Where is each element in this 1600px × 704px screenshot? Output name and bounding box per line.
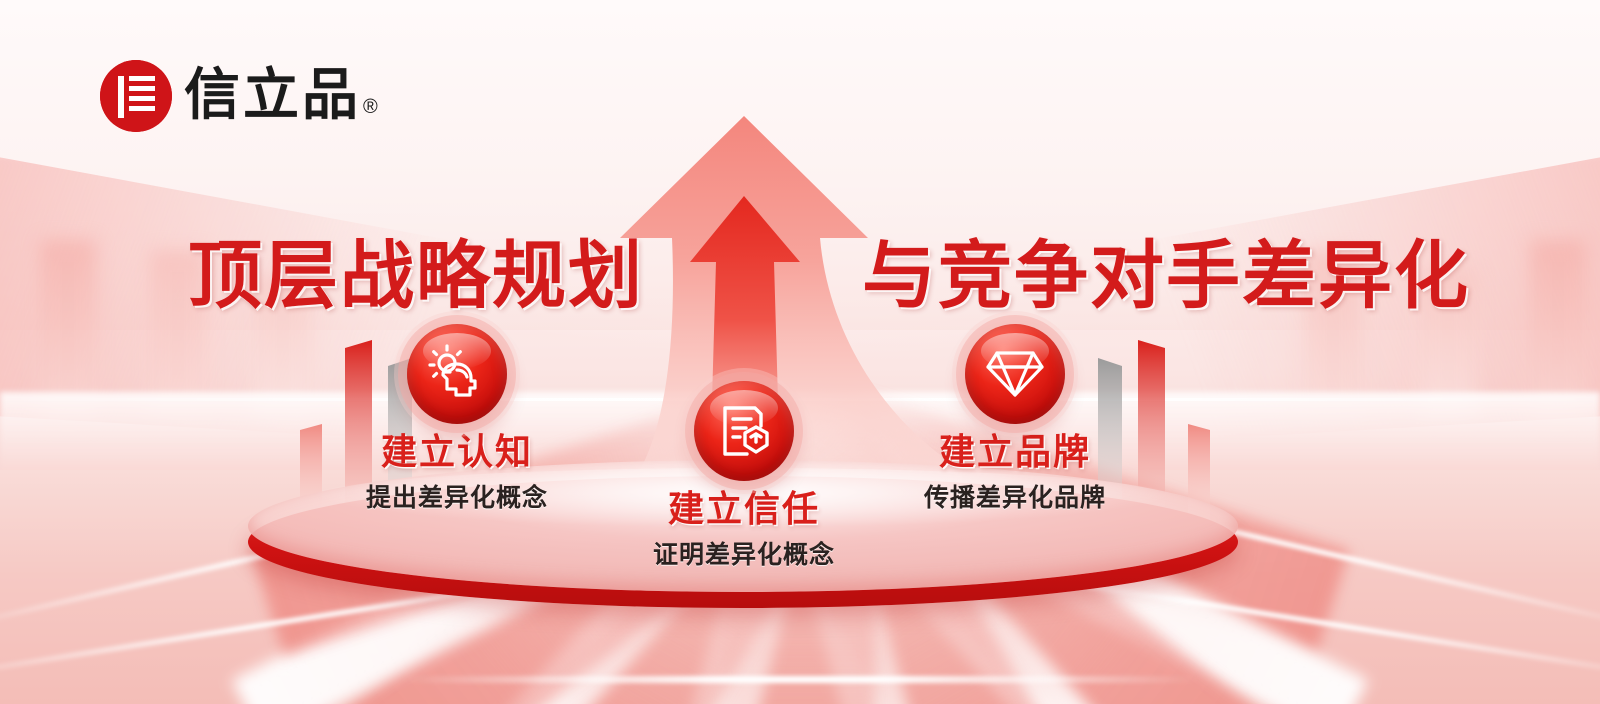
pillar-establish-brand[interactable]: 建立品牌 传播差异化品牌 bbox=[865, 324, 1165, 514]
pillar-establish-cognition[interactable]: 建立认知 提出差异化概念 bbox=[307, 324, 607, 514]
floor-glow-strip bbox=[400, 676, 1200, 683]
document-shield-icon bbox=[694, 381, 794, 481]
pillar-subtitle: 证明差异化概念 bbox=[594, 535, 894, 571]
poster-canvas: 信立品 ® 顶层战略规划 与竞争对手差异化 建立认知 提出差异化概念 bbox=[0, 0, 1600, 704]
background-pillar bbox=[1530, 240, 1586, 425]
lightbulb-head-icon bbox=[407, 324, 507, 424]
logo-text: 信立品 bbox=[184, 63, 361, 128]
brand-logo[interactable]: 信立品 ® bbox=[100, 60, 378, 132]
logo-wordmark: 信立品 ® bbox=[184, 68, 378, 124]
pillar-title: 建立信任 bbox=[594, 489, 894, 529]
logo-mark-icon bbox=[100, 60, 172, 132]
pillar-establish-trust[interactable]: 建立信任 证明差异化概念 bbox=[594, 381, 894, 571]
diamond-icon bbox=[965, 324, 1065, 424]
pillar-title: 建立认知 bbox=[307, 432, 607, 472]
background-pillar bbox=[40, 240, 96, 425]
trademark-symbol: ® bbox=[363, 96, 378, 118]
pillar-subtitle: 提出差异化概念 bbox=[307, 478, 607, 514]
headline-left: 顶层战略规划 bbox=[188, 216, 644, 323]
headline-right: 与竞争对手差异化 bbox=[862, 216, 1470, 323]
pillar-title: 建立品牌 bbox=[865, 432, 1165, 472]
pillar-subtitle: 传播差异化品牌 bbox=[865, 478, 1165, 514]
